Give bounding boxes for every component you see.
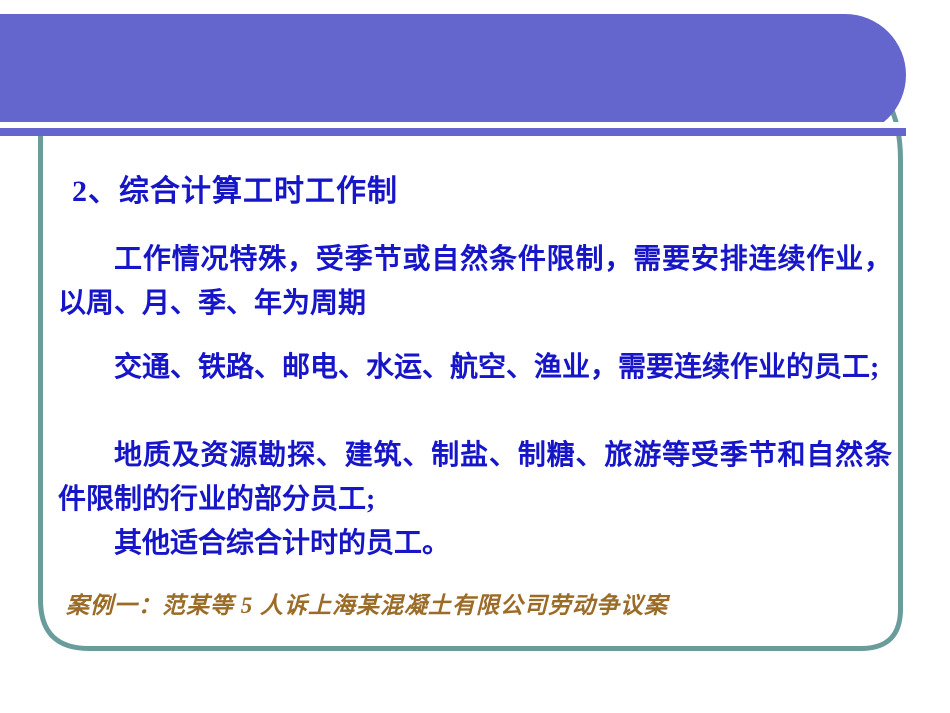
- header-banner-lower-stripe: [0, 128, 906, 136]
- body-paragraph-1: 工作情况特殊，受季节或自然条件限制，需要安排连续作业，以周、月、季、年为周期: [58, 238, 892, 326]
- body-paragraph-3: 地质及资源勘探、建筑、制盐、制糖、旅游等受季节和自然条件限制的行业的部分员工;: [58, 434, 892, 522]
- presentation-slide: 2、综合计算工时工作制 工作情况特殊，受季节或自然条件限制，需要安排连续作业，以…: [0, 0, 950, 713]
- body-paragraph-4: 其他适合综合计时的员工。: [58, 522, 892, 566]
- body-paragraph-2: 交通、铁路、邮电、水运、航空、渔业，需要连续作业的员工;: [58, 346, 892, 390]
- section-heading: 2、综合计算工时工作制: [72, 172, 398, 212]
- case-study-label: 案例一：范某等 5 人诉上海某混凝土有限公司劳动争议案: [66, 590, 668, 622]
- header-banner: [0, 14, 906, 136]
